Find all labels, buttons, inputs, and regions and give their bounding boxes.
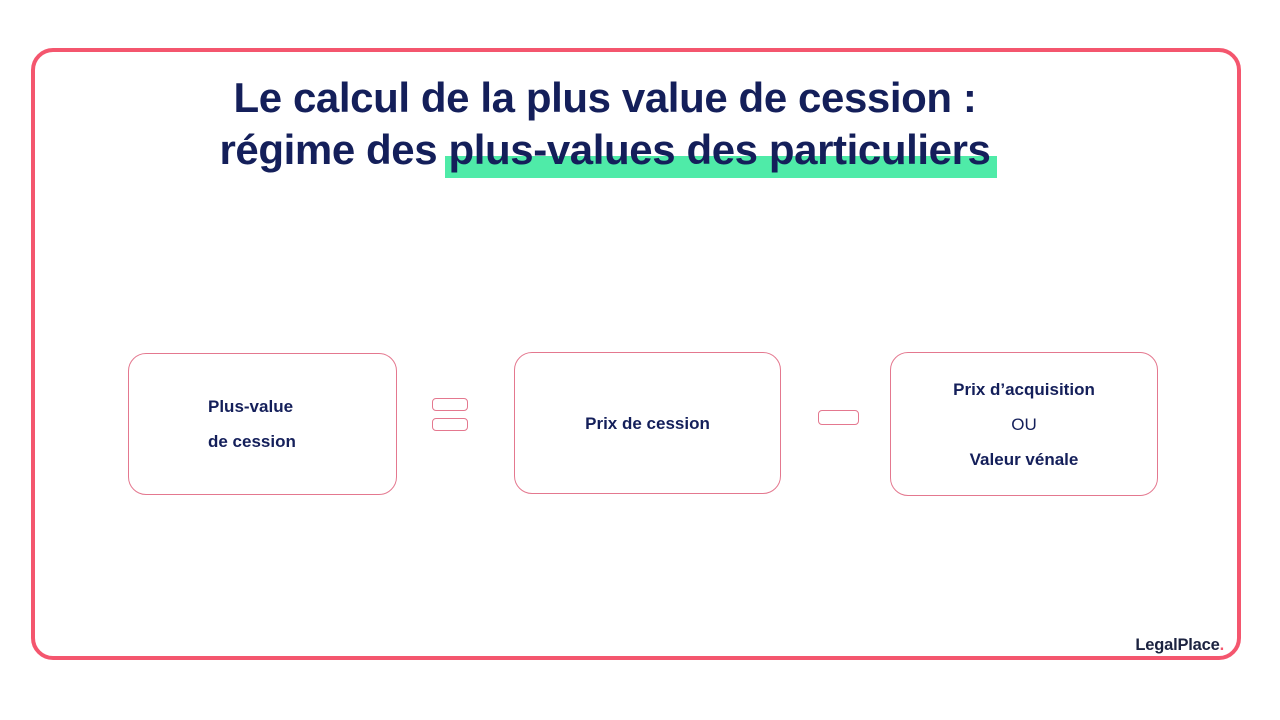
title-line-2-highlighted: plus-values des particuliers [449, 126, 991, 173]
box-plus-value: Plus-value de cession [128, 353, 397, 495]
box-prix-acquisition-line-1: Prix d’acquisition [953, 372, 1095, 407]
box-prix-acquisition: Prix d’acquisition OU Valeur vénale [890, 352, 1158, 496]
equals-bar-bottom [432, 418, 468, 431]
box-prix-cession: Prix de cession [514, 352, 781, 494]
box-prix-acquisition-line-3: Valeur vénale [970, 442, 1079, 477]
box-plus-value-line-1: Plus-value [208, 389, 293, 424]
slide-canvas: Le calcul de la plus value de cession : … [0, 0, 1280, 720]
title-highlight-group: plus-values des particuliers [449, 124, 991, 176]
equals-bar-top [432, 398, 468, 411]
logo-wordmark: LegalPlace [1135, 636, 1219, 654]
minus-operator-icon [818, 410, 859, 425]
formula-diagram: Plus-value de cession Prix de cession Pr… [0, 0, 1280, 720]
box-prix-acquisition-line-2: OU [1011, 407, 1037, 442]
logo-dot: . [1220, 636, 1224, 654]
box-plus-value-line-2: de cession [208, 424, 296, 459]
equals-operator-icon [432, 398, 468, 438]
box-prix-cession-line-1: Prix de cession [585, 406, 710, 441]
legalplace-logo: LegalPlace. [1135, 636, 1224, 655]
